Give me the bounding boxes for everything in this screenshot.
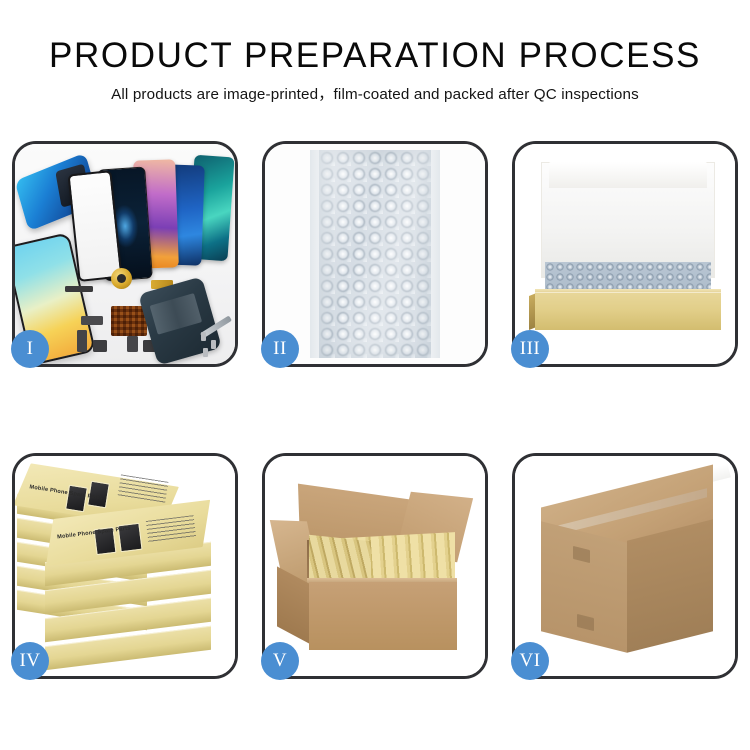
phone-parts-scene (15, 144, 235, 364)
sealed-carton-scene (515, 456, 735, 676)
step-panel-2: II (262, 141, 488, 367)
step-panel-6: VI (512, 453, 738, 679)
screw-3-icon (203, 348, 208, 357)
process-steps-grid: I II (12, 141, 738, 679)
step-3-image (515, 144, 735, 364)
part-flex-2-icon (77, 330, 87, 352)
box-tray-front-icon (535, 292, 721, 330)
step-badge-4: IV (11, 642, 49, 680)
step-badge-5: V (261, 642, 299, 680)
step-badge-1: I (11, 330, 49, 368)
screw-1-icon (201, 332, 206, 341)
product-preparation-infographic: PRODUCT PREPARATION PROCESS All products… (0, 0, 750, 750)
step-panel-5: V (262, 453, 488, 679)
box-lid-top-edge (549, 162, 707, 188)
page-title: PRODUCT PREPARATION PROCESS (0, 36, 750, 76)
step-2-image (265, 144, 485, 364)
step-panel-1: I (12, 141, 238, 367)
step-badge-6: VI (511, 642, 549, 680)
connector-grid-part-icon (111, 306, 147, 336)
step-1-image (15, 144, 235, 364)
part-flex-1-icon (81, 316, 103, 325)
step-badge-2: II (261, 330, 299, 368)
open-carton-scene (265, 456, 485, 676)
bubble-wrap-scene (265, 144, 485, 364)
step-5-image (265, 456, 485, 676)
open-flat-box-scene (515, 144, 735, 364)
step-panel-3: III (512, 141, 738, 367)
sealed-carton-left-face (541, 521, 627, 652)
step-4-image: Mobile Phone Spare Parts Mobile Phone Sp… (15, 456, 235, 676)
step-panel-4: Mobile Phone Spare Parts Mobile Phone Sp… (12, 453, 238, 679)
part-flex-6-icon (127, 336, 138, 352)
sealed-carton-right-face (627, 519, 713, 652)
carton-front-face (309, 582, 457, 650)
bubble-wrap-sheen (310, 150, 440, 358)
part-flex-3-icon (93, 340, 107, 352)
step-badge-3: III (511, 330, 549, 368)
screw-2-icon (211, 340, 216, 349)
step-6-image (515, 456, 735, 676)
taptic-coil-part-icon (111, 268, 132, 289)
page-subtitle: All products are image-printed，film-coat… (0, 85, 750, 105)
part-strip-icon (65, 286, 93, 292)
header: PRODUCT PREPARATION PROCESS All products… (0, 36, 750, 105)
stacked-boxes-scene: Mobile Phone Spare Parts Mobile Phone Sp… (15, 456, 235, 676)
